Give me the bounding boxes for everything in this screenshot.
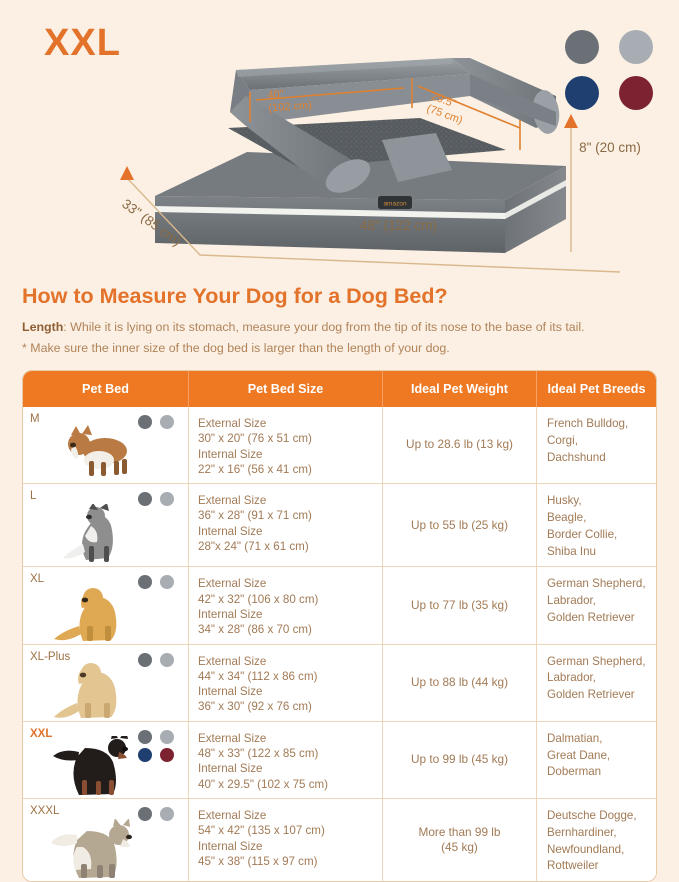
- weight-text: Up to 88 lb (44 kg): [411, 675, 508, 690]
- cell-ideal-pet-breeds: French Bulldog, Corgi, Dachshund: [537, 407, 656, 483]
- table-body: M External Size 30" x 20" (76 x 51 cm) I…: [23, 407, 656, 881]
- cell-ideal-pet-breeds: German Shepherd, Labrador, Golden Retrie…: [537, 645, 656, 721]
- breeds-text: Husky, Beagle, Border Collie, Shiba Inu: [547, 493, 650, 560]
- weight-text: Up to 55 lb (25 kg): [411, 518, 508, 533]
- cell-pet-bed-size: External Size 42" x 32" (106 x 80 cm) In…: [189, 567, 383, 643]
- cell-ideal-pet-weight: Up to 99 lb (45 kg): [383, 722, 537, 798]
- row-color-dot[interactable]: [160, 730, 174, 744]
- section-title: How to Measure Your Dog for a Dog Bed?: [22, 284, 661, 309]
- dim-internal-length: 40" (102 cm): [267, 87, 312, 116]
- cell-ideal-pet-weight: Up to 55 lb (25 kg): [383, 484, 537, 566]
- hero-section: XXL: [0, 0, 679, 278]
- cell-pet-bed-size: External Size 36" x 28" (91 x 71 cm) Int…: [189, 484, 383, 566]
- cell-ideal-pet-weight: Up to 88 lb (44 kg): [383, 645, 537, 721]
- size-text: External Size 42" x 32" (106 x 80 cm) In…: [198, 576, 374, 637]
- inner-size-note: * Make sure the inner size of the dog be…: [22, 340, 661, 358]
- arrow-depth-icon: [120, 166, 134, 180]
- cell-ideal-pet-breeds: Dalmatian, Great Dane, Doberman: [537, 722, 656, 798]
- cell-pet-bed-size: External Size 30" x 20" (76 x 51 cm) Int…: [189, 407, 383, 483]
- breeds-text: French Bulldog, Corgi, Dachshund: [547, 416, 650, 466]
- th-pet-bed-size: Pet Bed Size: [189, 371, 383, 407]
- cell-pet-bed: M: [23, 407, 189, 483]
- size-code-m: M: [30, 413, 40, 425]
- cell-pet-bed-size: External Size 44" x 34" (112 x 86 cm) In…: [189, 645, 383, 721]
- breeds-text: German Shepherd, Labrador, Golden Retrie…: [547, 654, 650, 704]
- length-label: Length: [22, 320, 63, 334]
- cell-pet-bed: L: [23, 484, 189, 566]
- weight-text: More than 99 lb (45 kg): [419, 825, 501, 856]
- dog-illustration-corgi: [49, 421, 155, 481]
- size-text: External Size 54" x 42" (135 x 107 cm) I…: [198, 808, 374, 869]
- cell-pet-bed-size: External Size 48" x 33" (122 x 85 cm) In…: [189, 722, 383, 798]
- dog-illustration-labrador: [49, 659, 155, 719]
- weight-text: Up to 28.6 lb (13 kg): [406, 437, 513, 452]
- breeds-text: Deutsche Dogge, Bernhardiner, Newfoundla…: [547, 808, 650, 875]
- size-text: External Size 30" x 20" (76 x 51 cm) Int…: [198, 416, 374, 477]
- th-ideal-pet-weight: Ideal Pet Weight: [383, 371, 537, 407]
- size-code-l: L: [30, 490, 36, 502]
- dog-illustration-border-collie: [49, 504, 155, 564]
- row-color-dot[interactable]: [160, 575, 174, 589]
- cell-pet-bed-size: External Size 54" x 42" (135 x 107 cm) I…: [189, 799, 383, 881]
- table-row: XL-Plus External Size 44" x 34" (112 x 8…: [23, 644, 656, 721]
- cell-ideal-pet-breeds: Deutsche Dogge, Bernhardiner, Newfoundla…: [537, 799, 656, 881]
- dog-bed-illustration: amazon: [0, 0, 679, 278]
- breeds-text: German Shepherd, Labrador, Golden Retrie…: [547, 576, 650, 626]
- cell-pet-bed: XL-Plus: [23, 645, 189, 721]
- th-pet-bed: Pet Bed: [23, 371, 189, 407]
- table-row: XL External Size 42" x 32" (106 x 80 cm)…: [23, 566, 656, 643]
- dog-illustration-golden-retriever: [49, 582, 155, 642]
- measure-guide-section: How to Measure Your Dog for a Dog Bed? L…: [0, 284, 679, 882]
- row-color-dot[interactable]: [160, 653, 174, 667]
- size-code-xxxl: XXXL: [30, 805, 59, 817]
- cell-ideal-pet-breeds: German Shepherd, Labrador, Golden Retrie…: [537, 567, 656, 643]
- size-text: External Size 44" x 34" (112 x 86 cm) In…: [198, 654, 374, 715]
- table-row: XXL External Size 48" x 33" (122 x 85 cm…: [23, 721, 656, 798]
- size-code-xl: XL: [30, 573, 44, 585]
- cell-ideal-pet-weight: More than 99 lb (45 kg): [383, 799, 537, 881]
- dim-height: 8" (20 cm): [569, 140, 651, 156]
- table-row: L External Size 36" x 28" (91 x 71 cm) I…: [23, 483, 656, 566]
- table-header-row: Pet Bed Pet Bed Size Ideal Pet Weight Id…: [23, 371, 656, 407]
- arrow-height-icon: [564, 114, 578, 128]
- length-text: : While it is lying on its stomach, meas…: [63, 320, 584, 334]
- row-color-dot[interactable]: [160, 492, 174, 506]
- brand-tag-label: amazon: [383, 201, 407, 208]
- row-color-dot[interactable]: [160, 748, 174, 762]
- row-color-dot[interactable]: [160, 415, 174, 429]
- dog-illustration-doberman: [49, 736, 155, 796]
- breeds-text: Dalmatian, Great Dane, Doberman: [547, 731, 650, 781]
- weight-text: Up to 77 lb (35 kg): [411, 598, 508, 613]
- length-instruction: Length: While it is lying on its stomach…: [22, 319, 602, 337]
- table-row: M External Size 30" x 20" (76 x 51 cm) I…: [23, 407, 656, 483]
- cell-pet-bed: XL: [23, 567, 189, 643]
- row-color-dot[interactable]: [160, 807, 174, 821]
- cell-pet-bed: XXL: [23, 722, 189, 798]
- cell-ideal-pet-weight: Up to 77 lb (35 kg): [383, 567, 537, 643]
- weight-text: Up to 99 lb (45 kg): [411, 752, 508, 767]
- cell-ideal-pet-breeds: Husky, Beagle, Border Collie, Shiba Inu: [537, 484, 656, 566]
- size-text: External Size 48" x 33" (122 x 85 cm) In…: [198, 731, 374, 792]
- size-text: External Size 36" x 28" (91 x 71 cm) Int…: [198, 493, 374, 554]
- table-row: XXXL External Size 54" x 42" (135 x 107 …: [23, 798, 656, 881]
- dim-width: 48" (122 cm): [360, 218, 437, 234]
- cell-pet-bed: XXXL: [23, 799, 189, 881]
- pet-bed-size-table: Pet Bed Pet Bed Size Ideal Pet Weight Id…: [22, 370, 657, 882]
- dog-illustration-malamute: [49, 819, 155, 879]
- cell-ideal-pet-weight: Up to 28.6 lb (13 kg): [383, 407, 537, 483]
- th-ideal-pet-breeds: Ideal Pet Breeds: [537, 371, 656, 407]
